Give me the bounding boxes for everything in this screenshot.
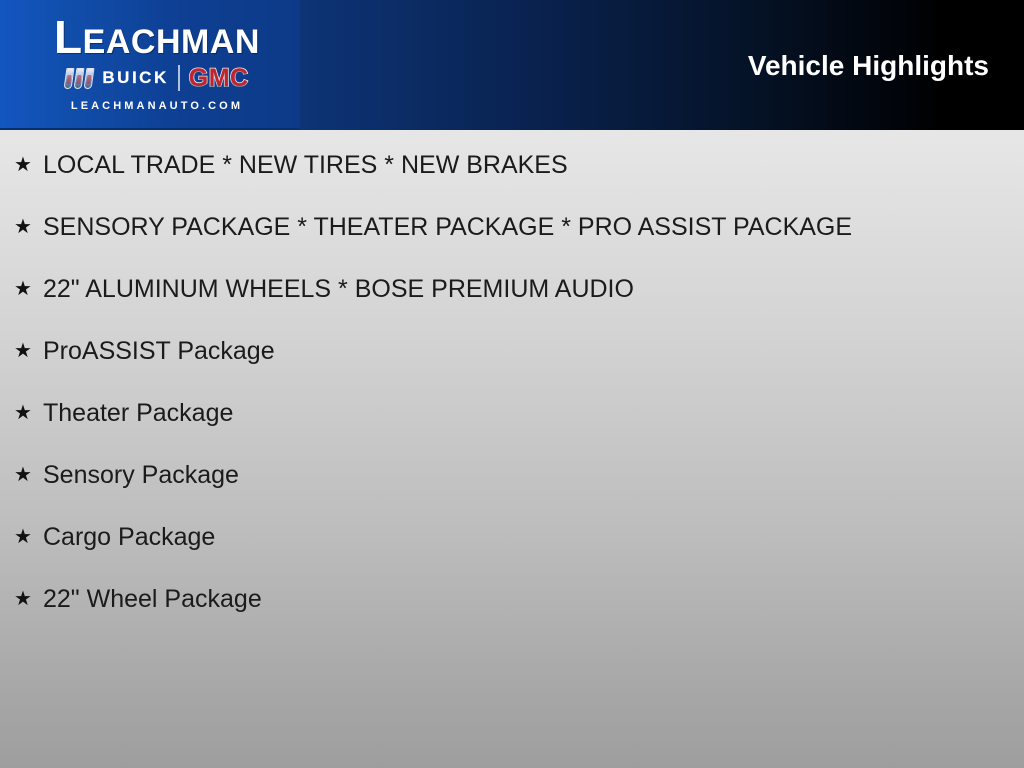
highlight-text: LOCAL TRADE * NEW TIRES * NEW BRAKES (43, 148, 994, 182)
page-header: LEACHMAN BUICK GMC LEACHMANAUTO.COM Vehi… (0, 0, 1024, 130)
brand-divider (178, 65, 180, 91)
highlight-text: Theater Package (43, 396, 994, 430)
list-item: ★ ProASSIST Package (0, 334, 1024, 368)
buick-wordmark: BUICK (102, 68, 168, 88)
list-item: ★ Cargo Package (0, 520, 1024, 554)
shield-part-3 (84, 68, 95, 89)
star-icon: ★ (14, 148, 43, 182)
dealer-logo[interactable]: LEACHMAN BUICK GMC LEACHMANAUTO.COM (0, 0, 300, 130)
star-icon: ★ (14, 272, 43, 306)
star-icon: ★ (14, 210, 43, 244)
dealer-wordmark-initial: L (54, 11, 83, 63)
highlight-text: SENSORY PACKAGE * THEATER PACKAGE * PRO … (43, 210, 994, 244)
page-title: Vehicle Highlights (748, 50, 989, 82)
buick-trishield-icon (64, 68, 97, 89)
star-icon: ★ (14, 582, 43, 616)
dealer-wordmark: LEACHMAN (28, 14, 286, 60)
dealer-website-label[interactable]: LEACHMANAUTO.COM (28, 100, 286, 112)
dealer-wordmark-rest: EACHMAN (83, 23, 260, 61)
highlights-list: ★ LOCAL TRADE * NEW TIRES * NEW BRAKES ★… (0, 130, 1024, 644)
list-item: ★ Sensory Package (0, 458, 1024, 492)
list-item: ★ LOCAL TRADE * NEW TIRES * NEW BRAKES (0, 148, 1024, 182)
star-icon: ★ (14, 334, 43, 368)
star-icon: ★ (14, 458, 43, 492)
highlight-text: 22" Wheel Package (43, 582, 994, 616)
brand-row: BUICK GMC (28, 63, 286, 93)
star-icon: ★ (14, 520, 43, 554)
highlight-text: Cargo Package (43, 520, 994, 554)
list-item: ★ SENSORY PACKAGE * THEATER PACKAGE * PR… (0, 210, 1024, 244)
gmc-wordmark: GMC (189, 64, 249, 93)
highlight-text: Sensory Package (43, 458, 994, 492)
highlight-text: 22" ALUMINUM WHEELS * BOSE PREMIUM AUDIO (43, 272, 994, 306)
vehicle-highlights-slide: LEACHMAN BUICK GMC LEACHMANAUTO.COM Vehi… (0, 0, 1024, 768)
highlight-text: ProASSIST Package (43, 334, 994, 368)
star-icon: ★ (14, 396, 43, 430)
list-item: ★ 22" Wheel Package (0, 582, 1024, 616)
list-item: ★ Theater Package (0, 396, 1024, 430)
list-item: ★ 22" ALUMINUM WHEELS * BOSE PREMIUM AUD… (0, 272, 1024, 306)
